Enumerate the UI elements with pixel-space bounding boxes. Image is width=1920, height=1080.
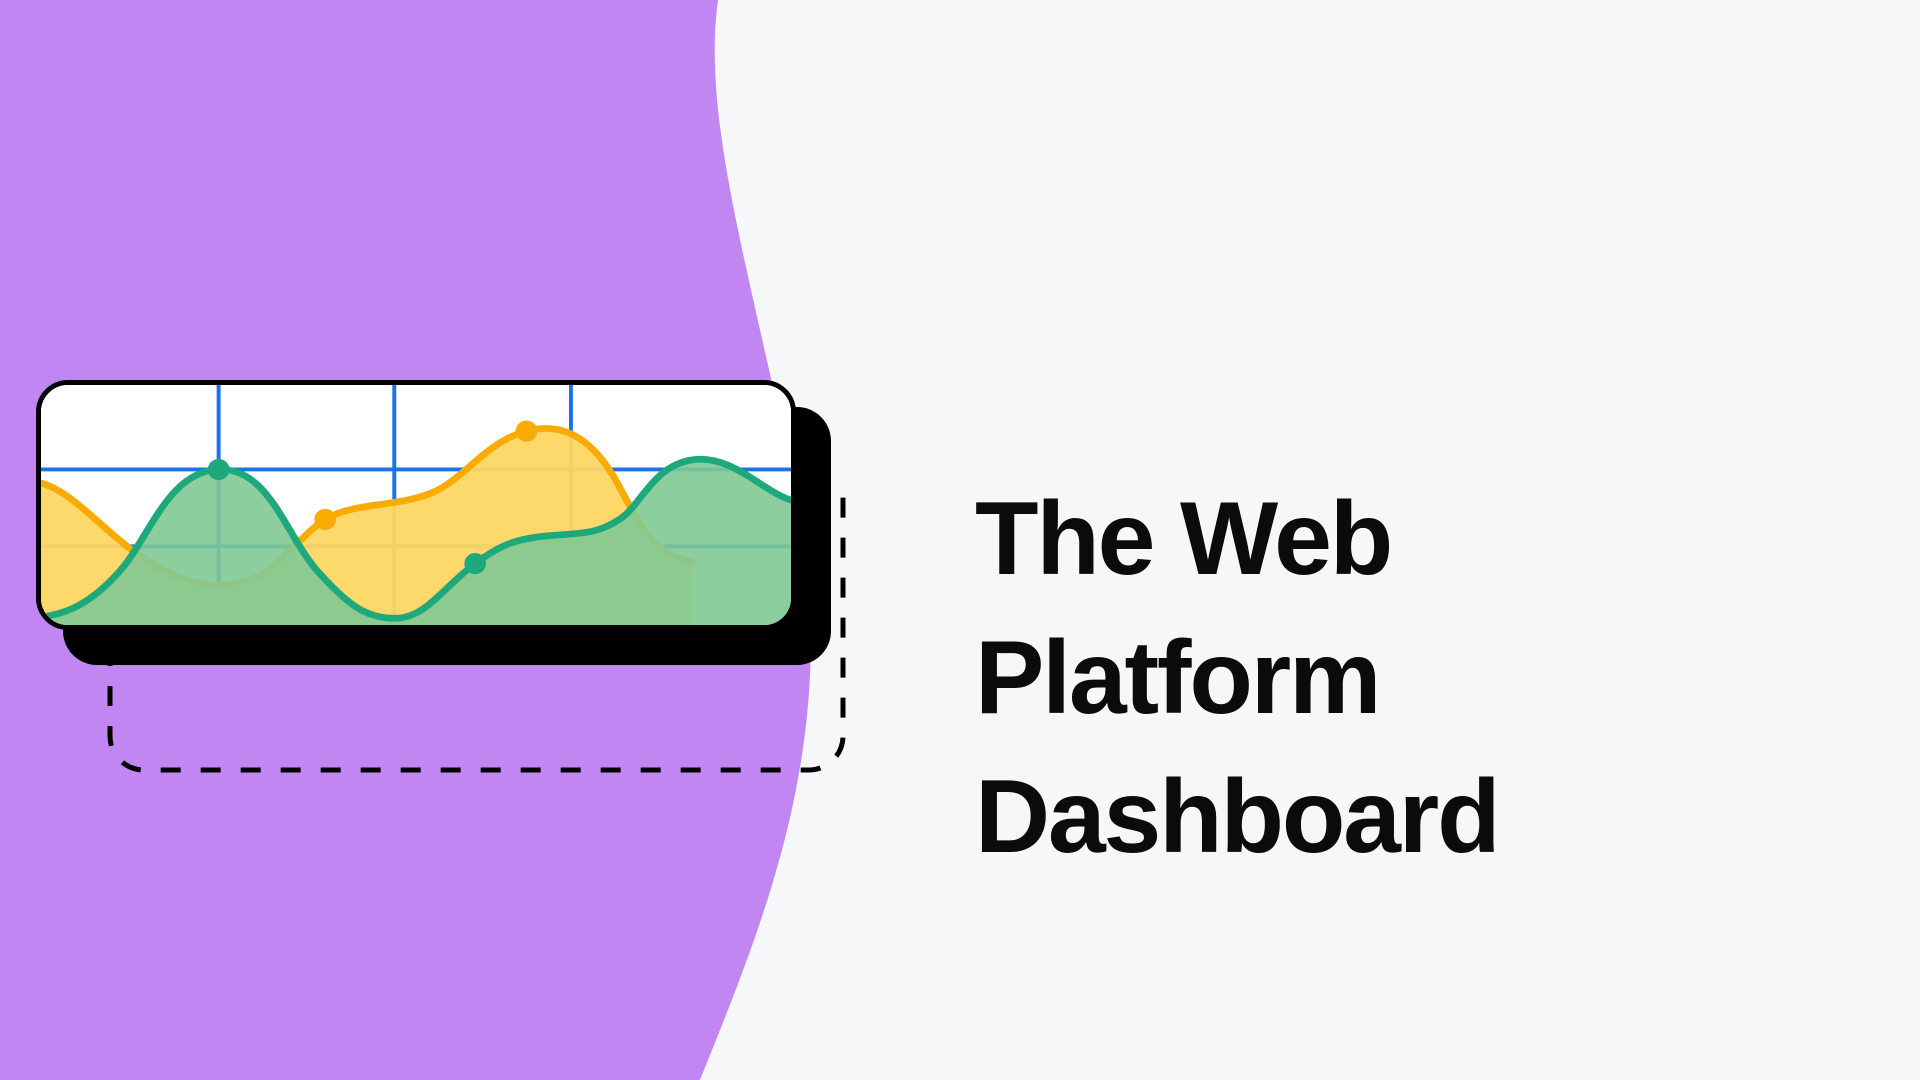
chart-card[interactable] [36, 380, 796, 630]
hero-stage: The Web Platform Dashboard [0, 0, 1920, 1080]
page-title-line-3: Dashboard [975, 748, 1735, 887]
page-title-line-2: Platform [975, 609, 1735, 748]
chart-card-group [36, 380, 806, 670]
page-title-line-1: The Web [975, 470, 1735, 609]
area-chart-icon [41, 385, 791, 625]
page-title: The Web Platform Dashboard [975, 470, 1735, 888]
